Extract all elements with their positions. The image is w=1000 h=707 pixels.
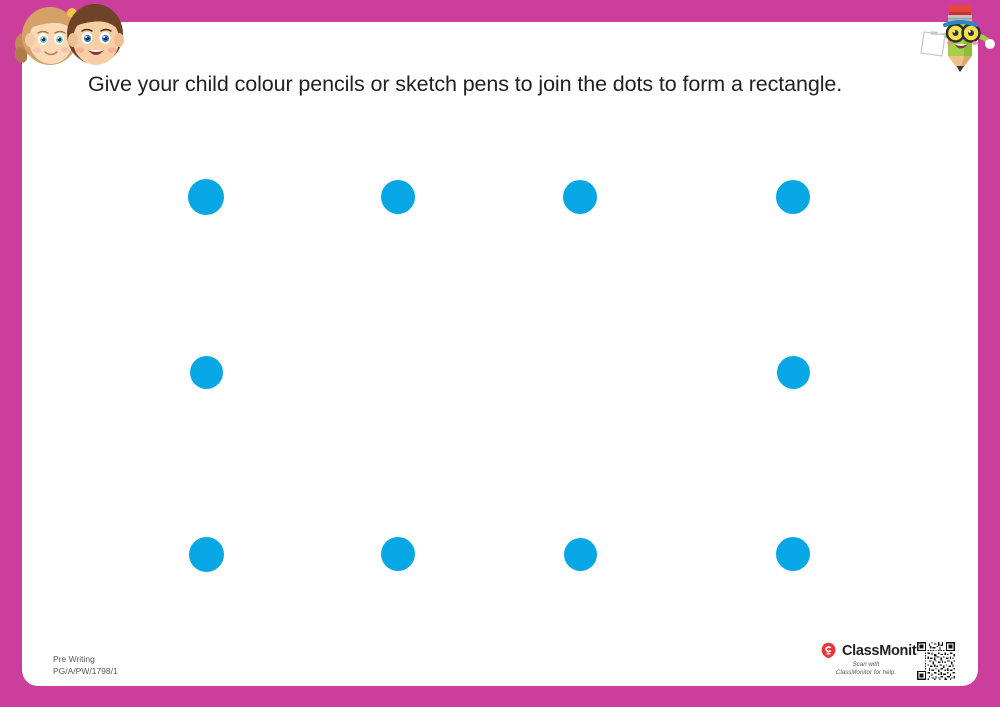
worksheet-page: Give your child colour pencils or sketch…: [0, 0, 1000, 707]
dot-bottom-2[interactable]: [381, 537, 415, 571]
footer-category: Pre Writing: [53, 653, 118, 665]
worksheet-card: Give your child colour pencils or sketch…: [22, 22, 978, 686]
dot-middle-2[interactable]: [777, 356, 810, 389]
pencil-mascot-icon: [918, 2, 998, 76]
brand-block: ClassMonitor Scan with ClassMonitor for …: [820, 642, 960, 684]
brand-tagline-line2: ClassMonitor for help.: [820, 669, 912, 677]
brand-tagline: Scan with ClassMonitor for help.: [820, 661, 912, 677]
dot-bottom-3[interactable]: [564, 538, 597, 571]
dot-top-1[interactable]: [188, 179, 224, 215]
brand-tagline-line1: Scan with: [820, 661, 912, 669]
dot-top-3[interactable]: [563, 180, 597, 214]
classmonitor-logo-icon: [820, 642, 837, 659]
dot-top-4[interactable]: [776, 180, 810, 214]
footer-codes: Pre Writing PG/A/PW/1798/1: [53, 653, 118, 677]
dot-bottom-4[interactable]: [776, 537, 810, 571]
qr-code-icon[interactable]: [917, 642, 955, 680]
dot-middle-1[interactable]: [190, 356, 223, 389]
dot-top-2[interactable]: [381, 180, 415, 214]
kids-mascot-icon: [2, 0, 136, 68]
dot-bottom-1[interactable]: [189, 537, 224, 572]
dot-grid: [0, 0, 1000, 707]
footer-code: PG/A/PW/1798/1: [53, 665, 118, 677]
